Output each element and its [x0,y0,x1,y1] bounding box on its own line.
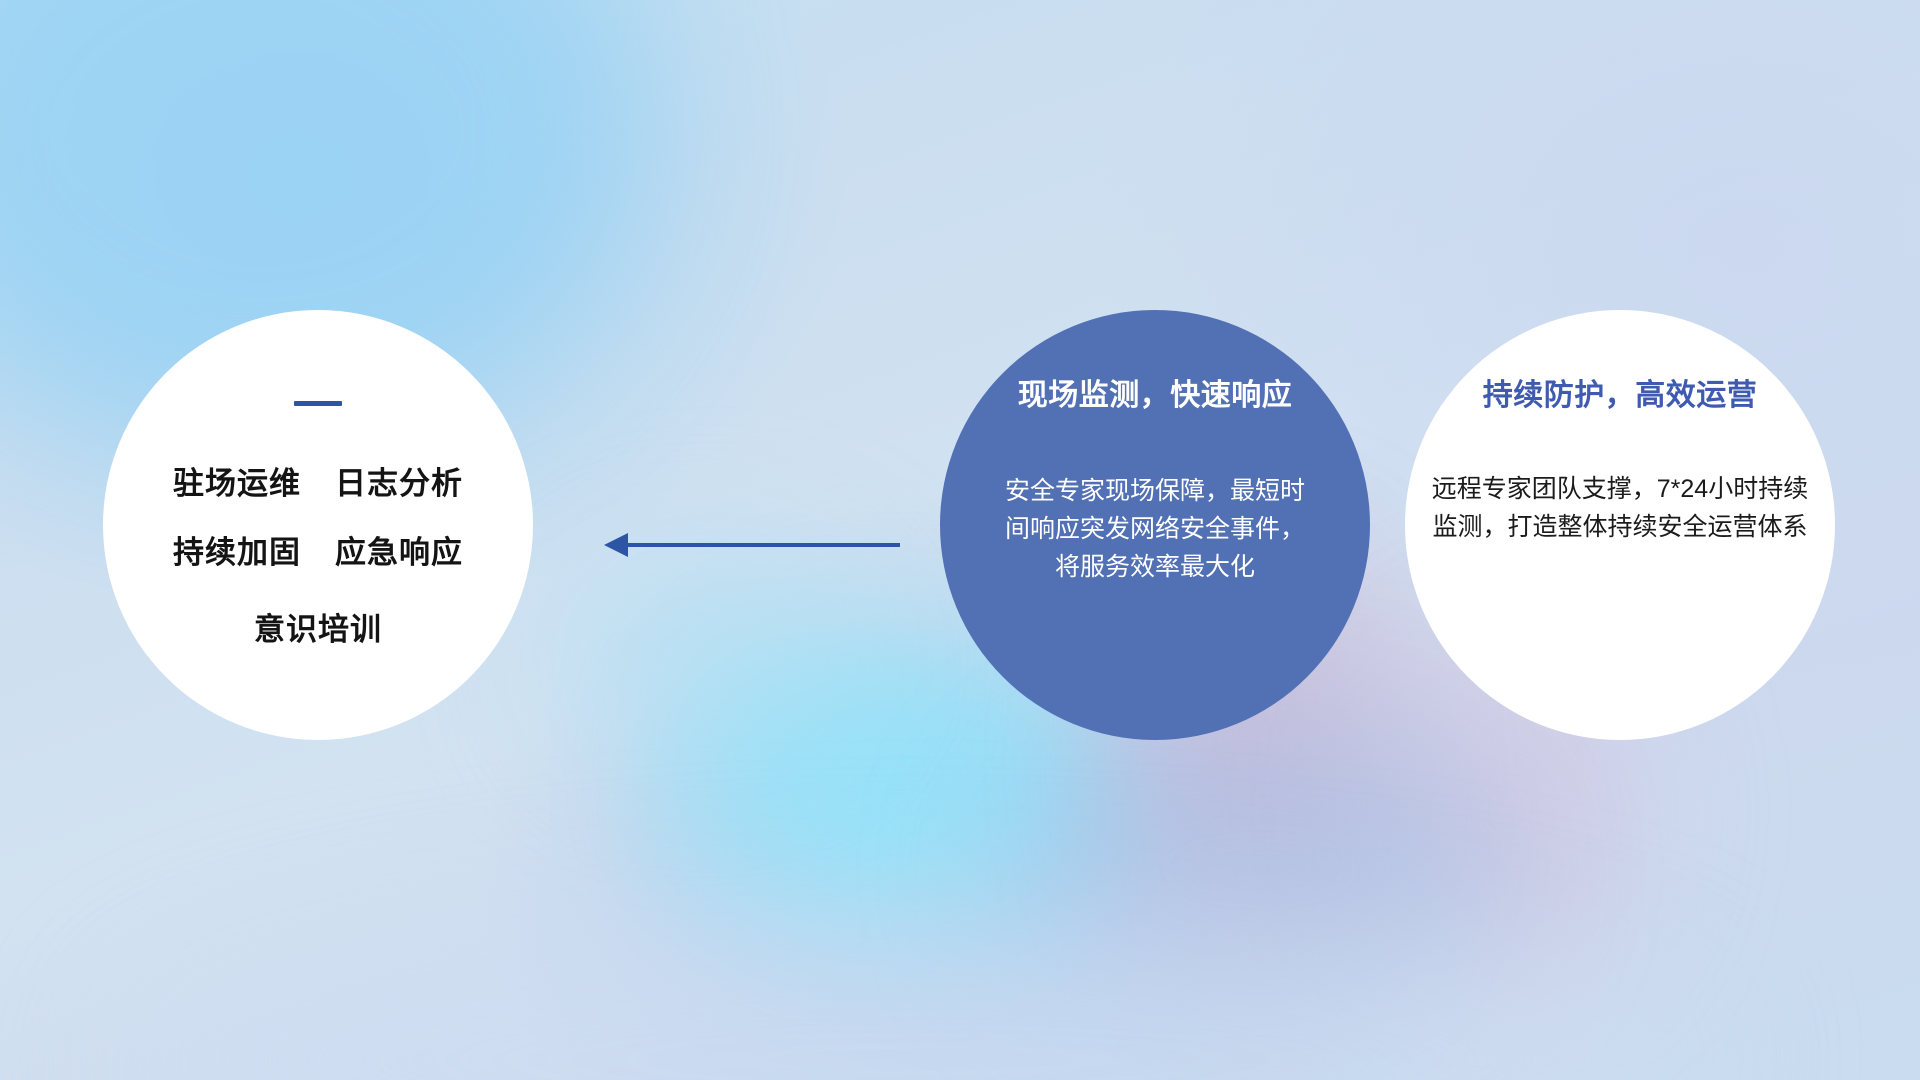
left-card-tag: 驻场运维 [173,458,301,503]
left-card-content: 驻场运维 日志分析 持续加固 应急响应 意识培训 [103,310,533,740]
right-card-content: 持续防护，高效运营 远程专家团队支撑，7*24小时持续监测，打造整体持续安全运营… [1405,310,1835,740]
left-card-tag: 意识培训 [254,604,382,649]
left-card-divider [294,401,342,406]
left-card-row: 持续加固 应急响应 [173,527,463,572]
right-card-title: 持续防护，高效运营 [1483,370,1758,414]
flow-arrow-icon [600,510,900,580]
background-glow-bottom [120,900,1720,1080]
middle-card-body: 安全专家现场保障，最短时间响应突发网络安全事件，将服务效率最大化 [1005,472,1305,586]
middle-card-title: 现场监测，快速响应 [1018,370,1293,414]
background-glow-cyan-small [560,560,860,760]
background-glow-blue [1000,720,1520,1020]
middle-card-content: 现场监测，快速响应 安全专家现场保障，最短时间响应突发网络安全事件，将服务效率最… [940,310,1370,740]
left-card-tag: 日志分析 [335,458,463,503]
right-card-body: 远程专家团队支撑，7*24小时持续监测，打造整体持续安全运营体系 [1430,470,1810,546]
left-card-row: 驻场运维 日志分析 [173,458,463,503]
left-card-row: 意识培训 [254,604,382,649]
left-card-tag: 持续加固 [173,527,301,572]
slide-canvas: 驻场运维 日志分析 持续加固 应急响应 意识培训 现场监测，快速响应 安全专家现… [0,0,1920,1080]
left-card-tag: 应急响应 [335,527,463,572]
